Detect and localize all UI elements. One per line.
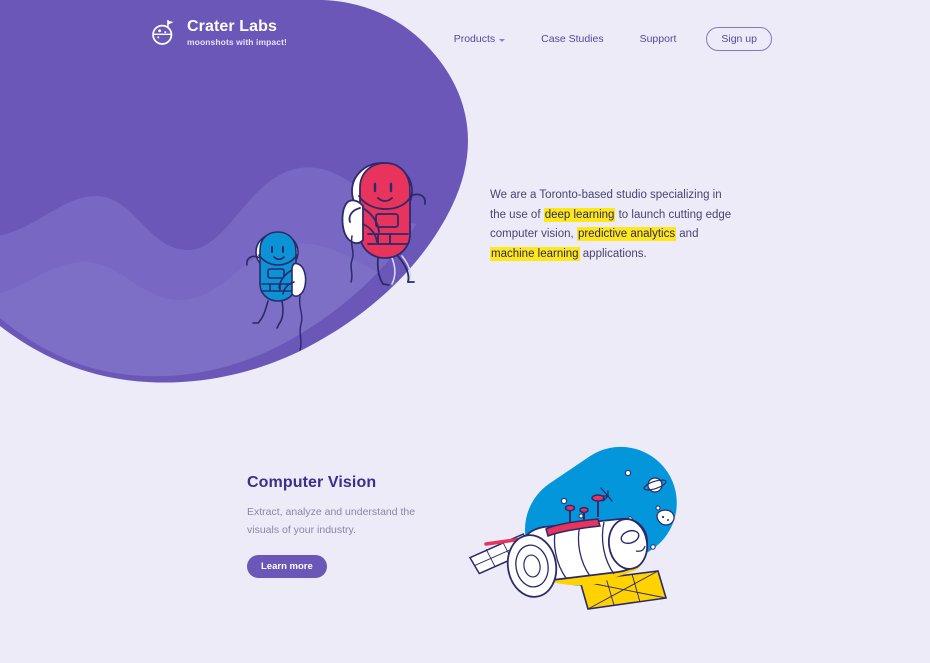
brand-text-block: Crater Labs moonshots with impact! — [187, 19, 287, 47]
space-telescope-satellite-illustration — [462, 438, 712, 618]
main-navigation: Products Case Studies Support Sign up — [454, 27, 772, 51]
nav-item-support-label: Support — [640, 33, 677, 45]
hero-paragraph: We are a Toronto-based studio specializi… — [490, 186, 740, 264]
hero-copy: We are a Toronto-based studio specializi… — [490, 186, 740, 264]
blue-astronaut-illustration — [232, 222, 327, 357]
hero-segment-3: and — [676, 228, 698, 240]
nav-item-products[interactable]: Products — [454, 29, 505, 49]
hero-highlight-deep-learning: deep learning — [544, 208, 616, 222]
red-astronaut-illustration — [330, 148, 445, 293]
hero-segment-4: applications. — [580, 248, 647, 260]
feature-text-block: Computer Vision Extract, analyze and und… — [247, 474, 442, 578]
feature-section-computer-vision: Computer Vision Extract, analyze and und… — [0, 430, 930, 630]
nav-item-products-label: Products — [454, 33, 495, 45]
nav-item-support[interactable]: Support — [640, 29, 677, 49]
brand-logo[interactable]: Crater Labs moonshots with impact! — [150, 19, 287, 47]
hero-highlight-machine-learning: machine learning — [490, 247, 580, 261]
feature-title: Computer Vision — [247, 474, 442, 492]
learn-more-button[interactable]: Learn more — [247, 555, 327, 578]
site-header: Crater Labs moonshots with impact! Produ… — [0, 0, 930, 72]
chevron-down-icon — [499, 39, 505, 42]
nav-item-case-studies-label: Case Studies — [541, 33, 603, 45]
signup-button[interactable]: Sign up — [706, 27, 772, 51]
hero-highlight-predictive-analytics: predictive analytics — [577, 227, 676, 241]
landing-page: Crater Labs moonshots with impact! Produ… — [0, 0, 930, 663]
brand-name: Crater Labs — [187, 19, 287, 35]
brand-tagline: moonshots with impact! — [187, 38, 287, 47]
planet-flag-icon — [150, 19, 178, 47]
asteroid-icon — [657, 510, 674, 525]
nav-item-case-studies[interactable]: Case Studies — [541, 29, 603, 49]
feature-description: Extract, analyze and understand the visu… — [247, 504, 442, 539]
